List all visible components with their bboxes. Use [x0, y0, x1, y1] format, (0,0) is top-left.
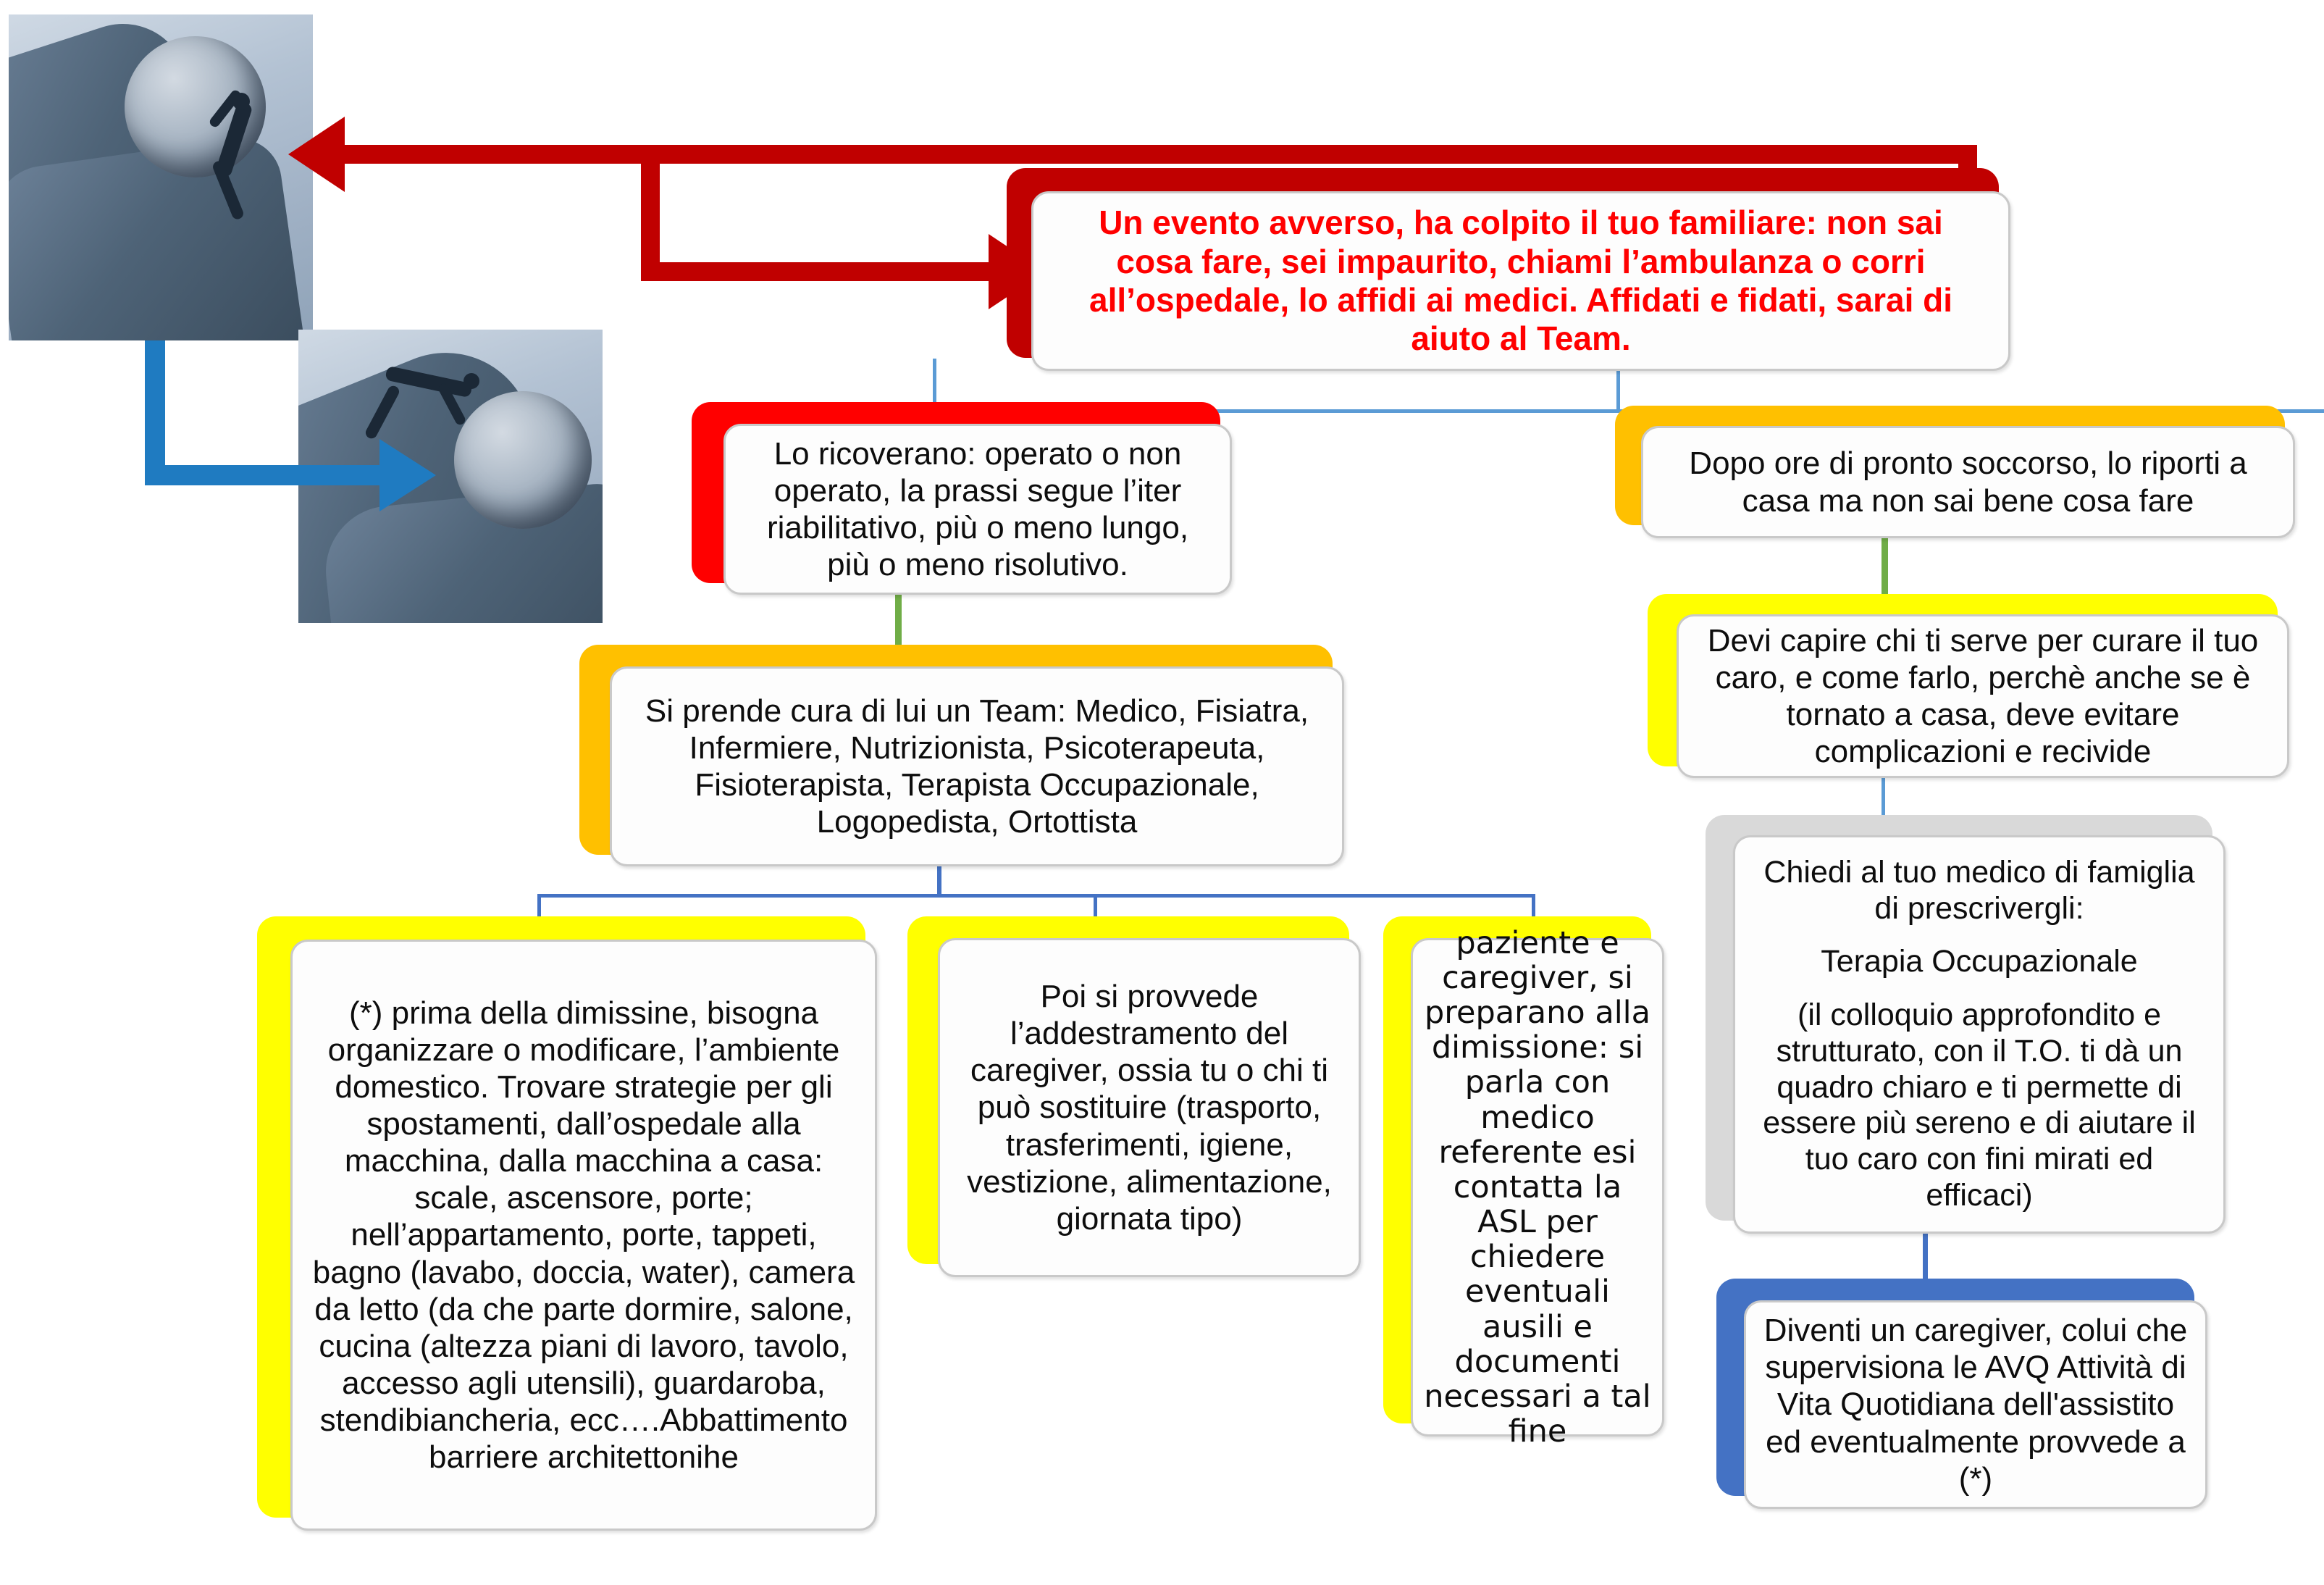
- node-event[interactable]: Un evento avverso, ha colpito il tuo fam…: [1007, 168, 1999, 358]
- node-text: Chiedi al tuo medico di famiglia di pres…: [1753, 855, 2206, 1214]
- flowchart-canvas: Un evento avverso, ha colpito il tuo fam…: [0, 0, 2324, 1585]
- blue-arrow-vertical: [145, 340, 165, 485]
- node-text: Dopo ore di pronto soccorso, lo riporti …: [1664, 445, 2273, 519]
- node-home-environment[interactable]: (*) prima della dimissine, bisogna organ…: [257, 916, 865, 1518]
- node-team[interactable]: Si prende cura di lui un Team: Medico, F…: [579, 645, 1333, 855]
- human-figure-head: [232, 93, 250, 110]
- node-text: Si prende cura di lui un Team: Medico, F…: [629, 693, 1325, 840]
- node-card[interactable]: Poi si provvede l’addestramento del care…: [938, 938, 1361, 1277]
- human-figure-head: [463, 373, 479, 389]
- node-card[interactable]: Devi capire chi ti serve per curare il t…: [1677, 614, 2289, 778]
- node-paragraph-1: Chiedi al tuo medico di famiglia di pres…: [1753, 855, 2206, 927]
- red-arrow-bottom-arm: [641, 262, 994, 281]
- node-understand-needs[interactable]: Devi capire chi ti serve per curare il t…: [1648, 594, 2278, 766]
- red-arrow-head-left: [288, 117, 345, 192]
- node-text: Poi si provvede l’addestramento del care…: [955, 978, 1344, 1237]
- node-caregiver-training[interactable]: Poi si provvede l’addestramento del care…: [907, 916, 1349, 1264]
- boulder: [454, 391, 592, 529]
- node-text: paziente e caregiver, si preparano alla …: [1423, 926, 1652, 1449]
- node-paragraph-3: (il colloquio approfondito e strutturato…: [1753, 998, 2206, 1214]
- node-text: Lo ricoverano: operato o non operato, la…: [744, 435, 1211, 583]
- node-card[interactable]: paziente e caregiver, si preparano alla …: [1411, 938, 1664, 1436]
- node-ask-doctor[interactable]: Chiedi al tuo medico di famiglia di pres…: [1706, 815, 2212, 1221]
- node-emergency-home[interactable]: Dopo ore di pronto soccorso, lo riporti …: [1615, 406, 2285, 525]
- node-text: Devi capire chi ti serve per curare il t…: [1696, 622, 2270, 770]
- blue-arrow-horizontal: [145, 465, 384, 485]
- sisyphus-photo-uphill: [9, 14, 313, 340]
- connector-team-split-bar: [537, 894, 1535, 898]
- node-text: (*) prima della dimissine, bisogna organ…: [309, 995, 859, 1475]
- node-card[interactable]: Un evento avverso, ha colpito il tuo fam…: [1031, 191, 2010, 371]
- node-text: Un evento avverso, ha colpito il tuo fam…: [1058, 204, 1984, 358]
- blue-arrow-head-right: [379, 439, 436, 511]
- node-become-caregiver[interactable]: Diventi un caregiver, colui che supervis…: [1716, 1279, 2194, 1496]
- node-text: Diventi un caregiver, colui che supervis…: [1762, 1312, 2189, 1497]
- node-card[interactable]: Chiedi al tuo medico di famiglia di pres…: [1733, 835, 2226, 1234]
- node-card[interactable]: Dopo ore di pronto soccorso, lo riporti …: [1641, 426, 2295, 538]
- node-card[interactable]: Si prende cura di lui un Team: Medico, F…: [610, 666, 1344, 866]
- node-card[interactable]: (*) prima della dimissine, bisogna organ…: [290, 940, 877, 1531]
- node-paragraph-2: Terapia Occupazionale: [1753, 944, 2206, 980]
- red-arrow-top-arm: [340, 145, 1977, 164]
- node-card[interactable]: Lo ricoverano: operato o non operato, la…: [723, 424, 1232, 595]
- node-hospitalized[interactable]: Lo ricoverano: operato o non operato, la…: [692, 402, 1220, 583]
- node-card[interactable]: Diventi un caregiver, colui che supervis…: [1744, 1300, 2207, 1509]
- red-arrow-left-vertical: [641, 145, 660, 272]
- node-discharge-prep[interactable]: paziente e caregiver, si preparano alla …: [1383, 916, 1651, 1423]
